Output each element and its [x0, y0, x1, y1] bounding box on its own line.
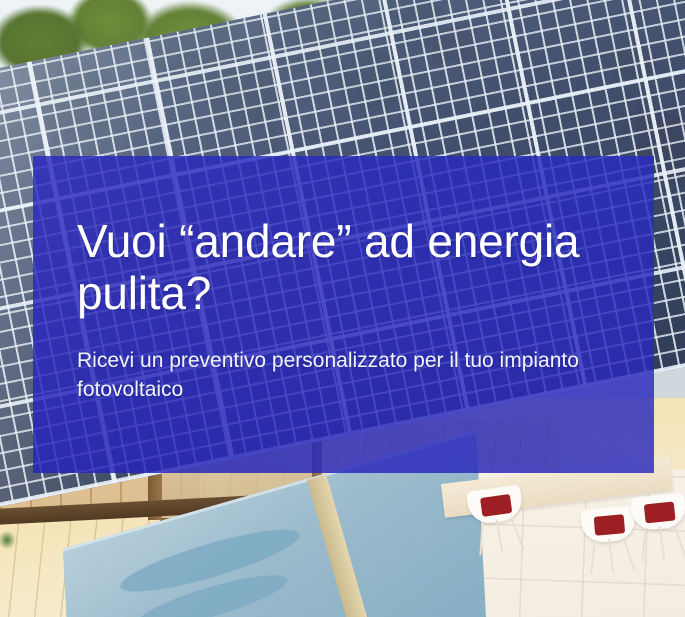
hero-headline: Vuoi “andare” ad energia pulita?: [77, 216, 610, 319]
promo-overlay-panel: Vuoi “andare” ad energia pulita? Ricevi …: [33, 156, 654, 473]
plant: [0, 527, 18, 553]
hero-subheadline: Ricevi un preventivo personalizzato per …: [77, 347, 597, 405]
hero-banner: Vuoi “andare” ad energia pulita? Ricevi …: [0, 0, 685, 617]
